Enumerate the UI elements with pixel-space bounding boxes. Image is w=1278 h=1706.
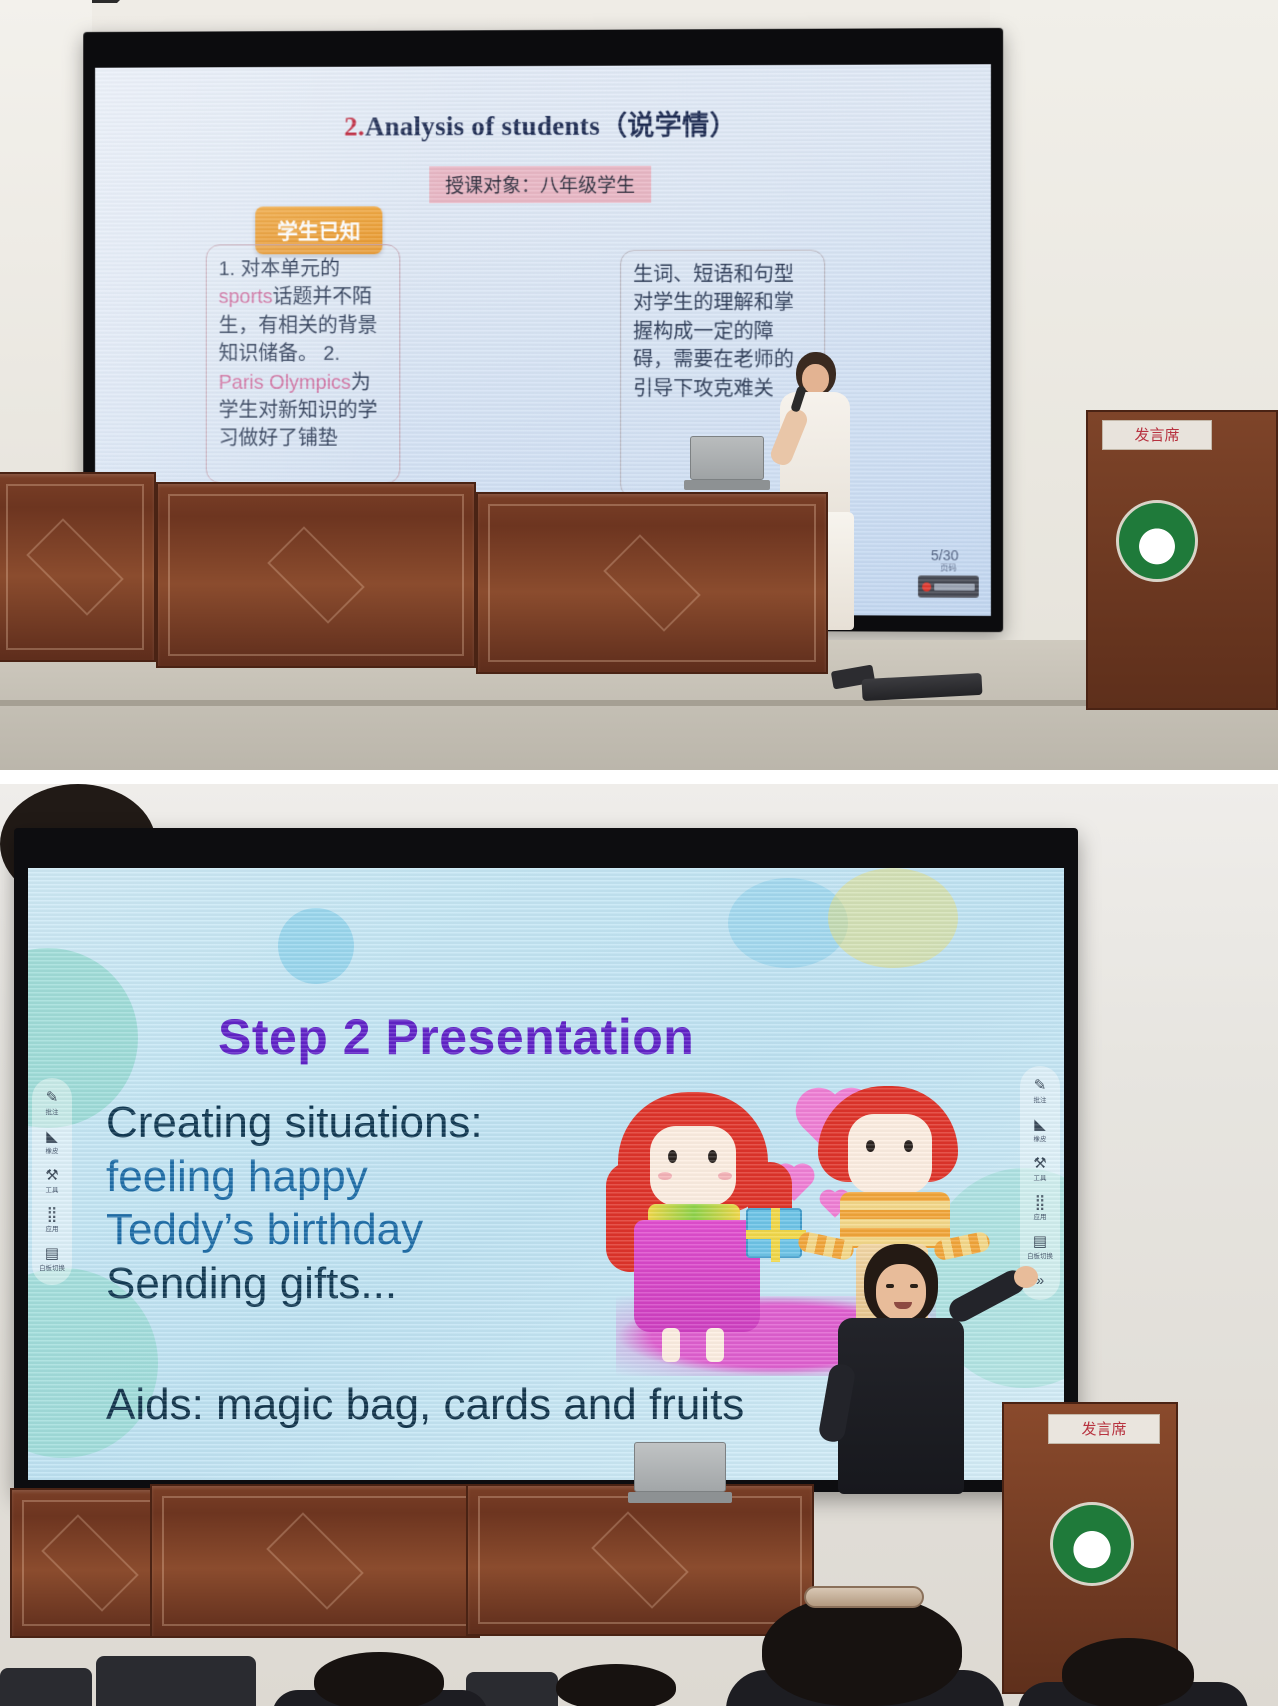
photo-panel-top: 2.Analysis of students（说学情） 授课对象：八年级学生 学… — [0, 0, 1278, 784]
desk-3 — [476, 492, 828, 674]
audience-head-3 — [556, 1664, 676, 1706]
left-item1-prefix: 1. 对本单元的 — [219, 258, 340, 280]
presenter-2-torso — [838, 1318, 964, 1494]
slide2-title: Step 2 Presentation — [218, 1008, 694, 1066]
toolbar-item-pen[interactable]: ✎ 批注 — [45, 1090, 59, 1117]
toolbar-item-apps[interactable]: ⣿ 应用 — [45, 1207, 59, 1234]
laptop-2 — [628, 1442, 732, 1508]
panel-divider — [0, 770, 1278, 784]
tools-label: 工具 — [46, 1185, 59, 1194]
slide1-title-en: Analysis of students — [365, 111, 600, 142]
audience-head-2 — [314, 1652, 444, 1706]
toolbar-item-pen-right[interactable]: ✎ 批注 — [1033, 1078, 1047, 1105]
pen-icon-right[interactable]: ✎ — [1034, 1078, 1047, 1093]
school-emblem-icon-1 — [1116, 500, 1198, 582]
toolbar-item-eraser[interactable]: ◣ 橡皮 — [45, 1129, 59, 1156]
audience-head-1 — [762, 1594, 962, 1706]
layers-icon[interactable]: ▤ — [45, 1246, 59, 1261]
photo-panel-bottom: Step 2 Presentation Creating situations:… — [0, 784, 1278, 1706]
tools-label-right: 工具 — [1034, 1173, 1047, 1182]
eraser-label-right: 橡皮 — [1034, 1134, 1047, 1143]
slide1-subject-line: 授课对象：八年级学生 — [429, 166, 651, 203]
toolbar-item-whiteboard-right[interactable]: ▤ 白板切换 — [1026, 1234, 1054, 1261]
bg-blob-blue — [278, 908, 354, 984]
gift-box-icon — [746, 1208, 802, 1258]
school-emblem-icon-2 — [1050, 1502, 1134, 1586]
slide2-body-lines: Creating situations: feeling happy Teddy… — [106, 1096, 626, 1311]
laptop-1 — [684, 436, 770, 494]
layers-icon-right[interactable]: ▤ — [1033, 1234, 1047, 1249]
toolbar-item-whiteboard[interactable]: ▤ 白板切换 — [38, 1246, 66, 1273]
presenter-2-hand — [1014, 1266, 1038, 1288]
apps-grid-icon[interactable]: ⣿ — [47, 1207, 58, 1222]
podium-plate-1: 发言席 — [1102, 420, 1212, 450]
laptop-lid — [690, 436, 764, 480]
podium-plate-2: 发言席 — [1048, 1414, 1160, 1444]
toolbar-item-eraser-right[interactable]: ◣ 橡皮 — [1033, 1117, 1047, 1144]
seat-back-3 — [0, 1668, 92, 1706]
desk-1 — [0, 472, 156, 662]
slide2-line-4: Sending gifts... — [106, 1257, 626, 1311]
apps-label: 应用 — [46, 1224, 59, 1233]
tools-icon-right[interactable]: ⚒ — [1033, 1156, 1046, 1171]
left-item2-prefix: 2. — [323, 343, 340, 365]
apps-grid-icon-right[interactable]: ⣿ — [1035, 1195, 1046, 1210]
toolbar-item-apps-right[interactable]: ⣿ 应用 — [1033, 1195, 1047, 1222]
left-item2-en: Paris Olympics — [219, 371, 351, 393]
left-item1-en: sports — [219, 287, 273, 309]
seat-back-1 — [96, 1656, 256, 1706]
podium-1: 发言席 — [1086, 410, 1278, 710]
laptop-base-2 — [628, 1492, 732, 1503]
pen-label-right: 批注 — [1034, 1095, 1047, 1104]
laptop-base — [684, 480, 770, 490]
slide2-line-3: Teddy’s birthday — [106, 1203, 626, 1257]
record-dot-icon[interactable] — [922, 582, 931, 591]
presenter-2-face — [876, 1264, 926, 1320]
tools-icon[interactable]: ⚒ — [45, 1168, 58, 1183]
bg-blob-yellow — [828, 868, 958, 968]
apps-label-right: 应用 — [1034, 1212, 1047, 1221]
audience-head-4 — [1062, 1638, 1194, 1706]
eraser-label: 橡皮 — [46, 1146, 59, 1155]
slide1-left-textbox: 1. 对本单元的sports话题并不陌生，有相关的背景知识储备。 2. Pari… — [206, 244, 401, 483]
whiteboard-label: 白板切换 — [39, 1263, 65, 1272]
eraser-icon[interactable]: ◣ — [46, 1129, 58, 1144]
toolbar-item-tools[interactable]: ⚒ 工具 — [45, 1168, 59, 1195]
slide2-line-1: Creating situations: — [106, 1096, 626, 1150]
slide1-playback-toolbar[interactable] — [918, 575, 979, 597]
slide1-title: 2.Analysis of students（说学情） — [95, 102, 991, 144]
presenter-2 — [820, 1244, 1030, 1544]
slide1-title-number: 2. — [344, 112, 365, 142]
slide1-tool-label: 页码 — [940, 562, 956, 573]
progress-bar[interactable] — [934, 583, 974, 590]
pen-icon[interactable]: ✎ — [46, 1090, 59, 1105]
wall-left — [0, 0, 92, 470]
hair-clip-icon — [804, 1586, 924, 1608]
slide1-title-zh: （说学情） — [600, 110, 737, 140]
photo-collage: 2.Analysis of students（说学情） 授课对象：八年级学生 学… — [0, 0, 1278, 1706]
desk-4 — [10, 1488, 170, 1638]
slide2-left-toolbar[interactable]: ✎ 批注 ◣ 橡皮 ⚒ 工具 ⣿ 应用 — [32, 1078, 72, 1285]
slide1-page-indicator: 5/30 — [931, 547, 959, 563]
eraser-icon-right[interactable]: ◣ — [1034, 1117, 1046, 1132]
slide2-line-2: feeling happy — [106, 1150, 626, 1204]
whiteboard-label-right: 白板切换 — [1027, 1251, 1053, 1260]
pen-label: 批注 — [46, 1107, 59, 1116]
desk-2 — [156, 482, 476, 668]
desk-5 — [150, 1484, 480, 1638]
toolbar-item-tools-right[interactable]: ⚒ 工具 — [1033, 1156, 1047, 1183]
laptop-lid-2 — [634, 1442, 726, 1492]
